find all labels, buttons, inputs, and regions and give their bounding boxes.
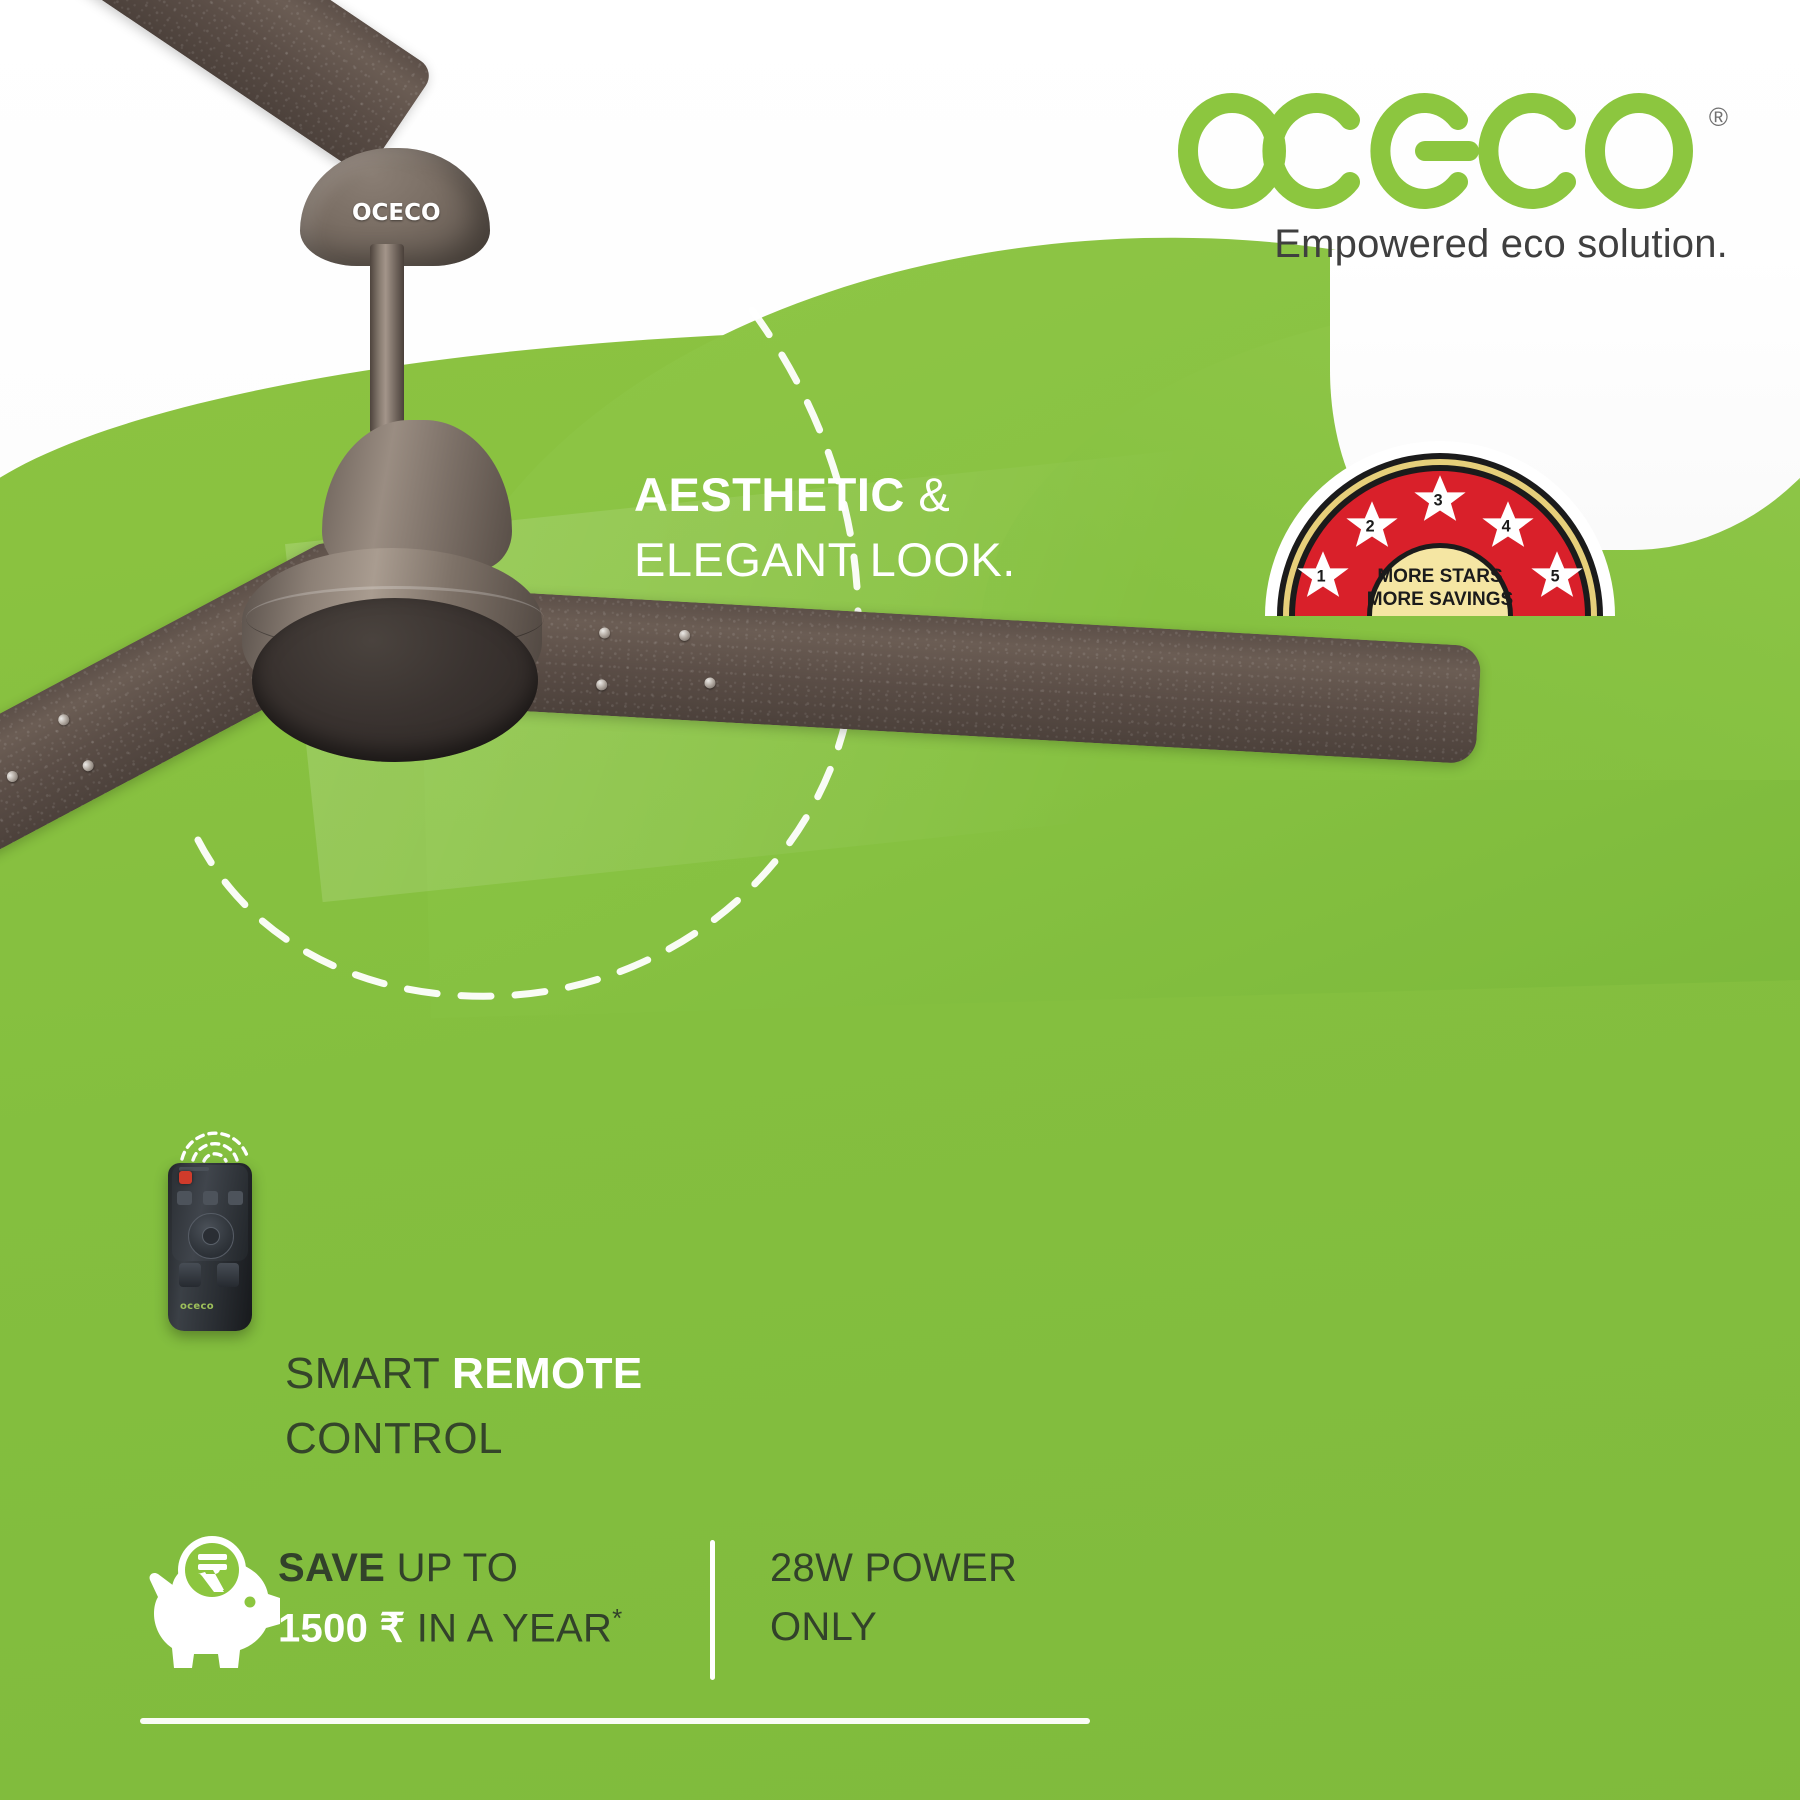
signal-waves-icon — [172, 1111, 258, 1163]
oceco-logo-last-o-icon — [1583, 92, 1703, 210]
remote-text-plain: SMART — [285, 1349, 452, 1398]
remote-text-line-2: CONTROL — [285, 1410, 643, 1467]
product-poster: ® Empowered eco solution. OCECO — [0, 0, 1800, 1800]
brand-tagline: Empowered eco solution. — [1177, 222, 1728, 267]
vertical-divider — [710, 1540, 715, 1680]
remote-timer-icon[interactable] — [228, 1191, 243, 1205]
savings-line-2-rest: IN A YEAR — [405, 1607, 612, 1651]
oceco-logo-icon — [1177, 92, 1597, 210]
smart-remote-feature-text: SMART REMOTE CONTROL — [285, 1345, 643, 1467]
power-text: 28W POWER ONLY — [770, 1543, 1017, 1653]
remote-power-button[interactable] — [179, 1171, 192, 1184]
savings-amount: 1500 ₹ — [278, 1607, 405, 1651]
remote-text-line-1: SMART REMOTE — [285, 1345, 643, 1402]
remote-up-down-button-right[interactable] — [217, 1263, 239, 1287]
savings-line-1: SAVE UP TO — [278, 1543, 623, 1594]
badge-center-line-2: MORE SAVINGS — [1367, 589, 1513, 610]
headline-line-1-bold: AESTHETIC — [634, 468, 905, 521]
savings-line-1-bold: SAVE — [278, 1546, 385, 1590]
remote-dial-center-button[interactable] — [202, 1227, 220, 1245]
power-line-1: 28W POWER — [770, 1543, 1017, 1594]
headline-line-1: AESTHETIC & — [634, 466, 1016, 523]
badge-star-3: 3 — [1434, 492, 1443, 510]
bee-star-rating-badge: 1 2 3 4 5 MORE STARS MORE SAVINGS — [1255, 430, 1625, 630]
savings-asterisk: * — [612, 1603, 622, 1633]
piggy-bank-rupee-icon — [128, 1528, 288, 1678]
aesthetic-headline: AESTHETIC & ELEGANT LOOK. — [634, 466, 1016, 589]
savings-text: SAVE UP TO 1500 ₹ IN A YEAR* — [278, 1543, 623, 1655]
badge-star-1: 1 — [1317, 568, 1326, 586]
remote-control-image: oceco — [150, 1105, 280, 1325]
savings-line-1-rest: UP TO — [385, 1546, 518, 1590]
savings-line-2: 1500 ₹ IN A YEAR* — [278, 1602, 623, 1655]
power-line-2: ONLY — [770, 1602, 1017, 1653]
brand-logo: ® Empowered eco solution. — [1177, 92, 1728, 267]
brand-wordmark: ® — [1177, 92, 1728, 210]
headline-line-2: ELEGANT LOOK. — [634, 531, 1016, 588]
badge-star-2: 2 — [1366, 518, 1375, 536]
remote-brand-label: oceco — [180, 1301, 214, 1312]
registered-trademark-icon: ® — [1709, 102, 1728, 133]
badge-center-line-1: MORE STARS — [1377, 566, 1502, 587]
badge-star-4: 4 — [1502, 518, 1511, 536]
headline-line-1-rest: & — [905, 468, 950, 521]
remote-mode-icon-row[interactable] — [177, 1191, 243, 1207]
badge-star-5: 5 — [1551, 568, 1560, 586]
bottom-divider-line — [140, 1718, 1090, 1724]
remote-breeze-icon[interactable] — [203, 1191, 218, 1205]
remote-up-down-button-left[interactable] — [179, 1263, 201, 1287]
remote-text-bold: REMOTE — [452, 1349, 643, 1398]
remote-sleep-icon[interactable] — [177, 1191, 192, 1205]
